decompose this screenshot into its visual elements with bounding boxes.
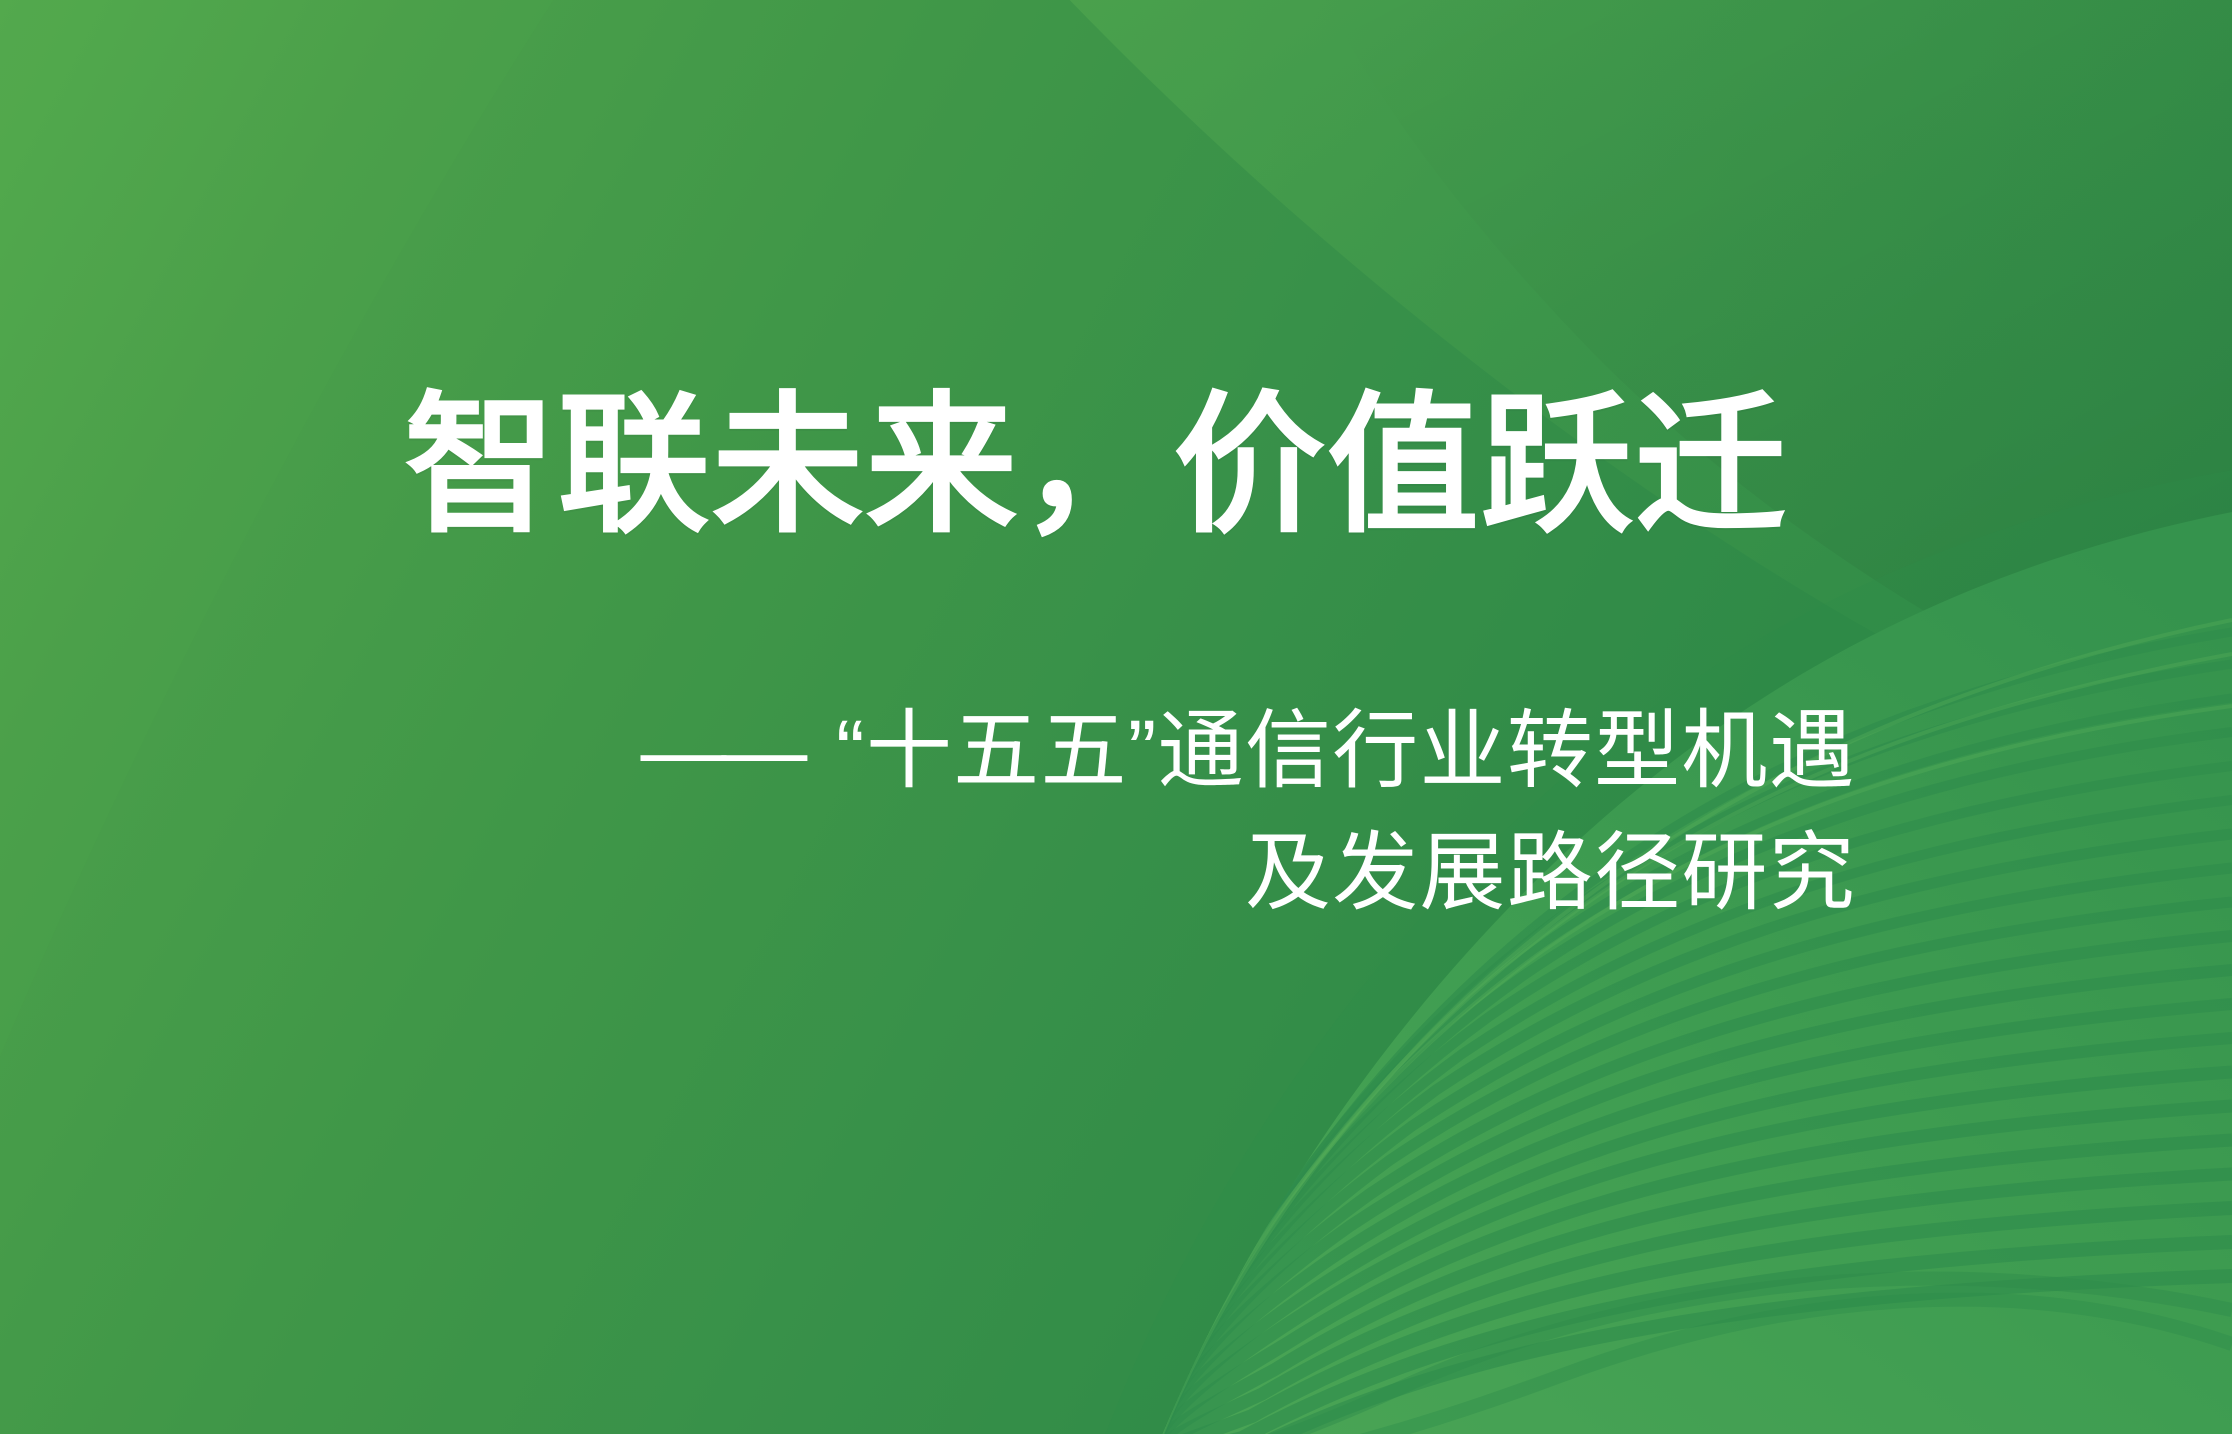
subtitle-line-2: 及发展路径研究 bbox=[300, 812, 1856, 934]
subtitle-block: —— “十五五”通信行业转型机遇 及发展路径研究 bbox=[300, 690, 1856, 934]
subtitle-line-1-text: “十五五”通信行业转型机遇 bbox=[811, 703, 1856, 799]
subtitle-em-dash: —— bbox=[640, 703, 802, 799]
page-title: 智联未来，价值跃迁 bbox=[404, 386, 1844, 547]
subtitle-line-1: —— “十五五”通信行业转型机遇 bbox=[300, 690, 1856, 812]
title-slide: 智联未来，价值跃迁 —— “十五五”通信行业转型机遇 及发展路径研究 bbox=[0, 0, 2232, 1434]
